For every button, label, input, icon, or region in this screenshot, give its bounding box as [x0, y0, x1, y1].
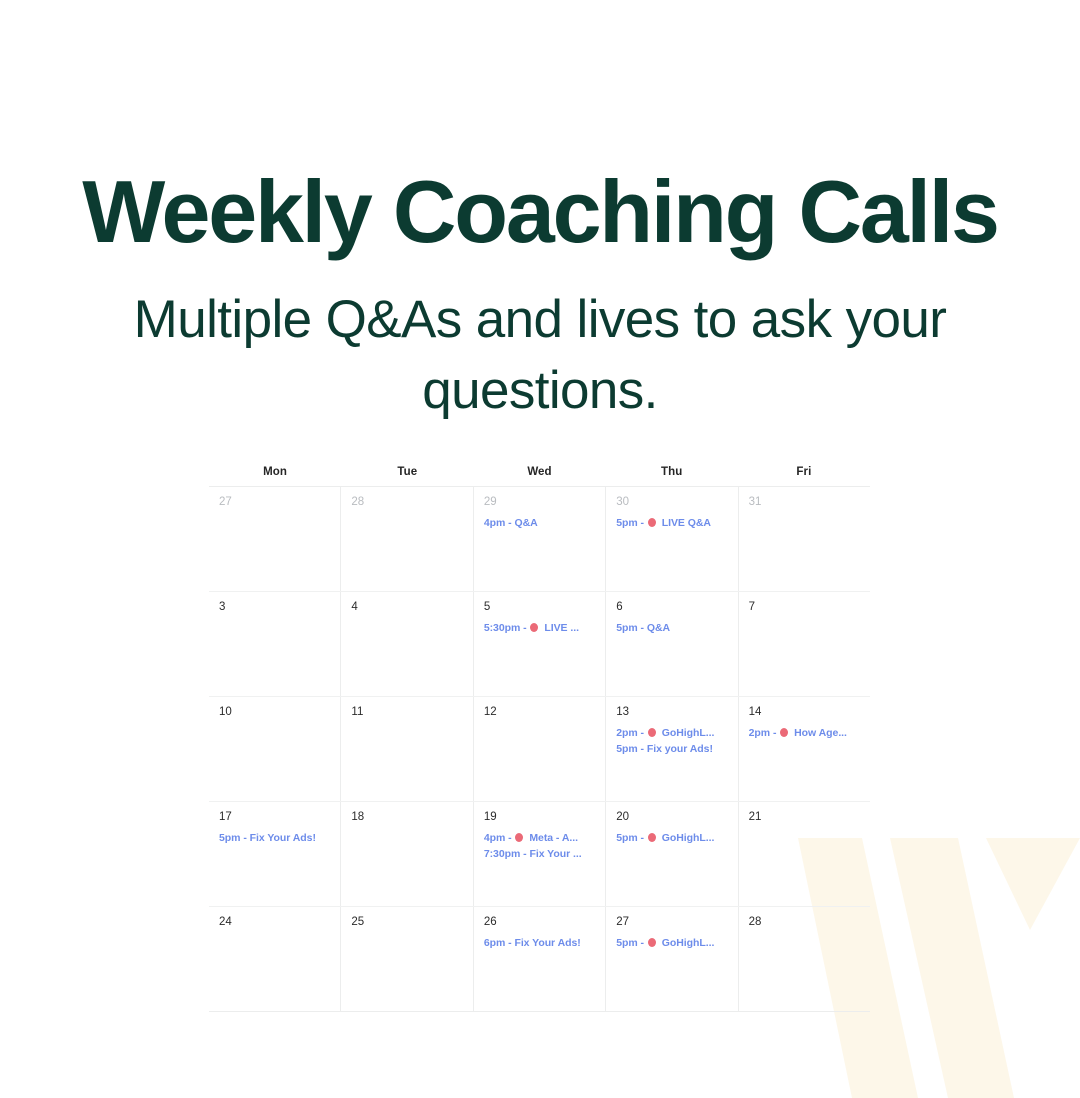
calendar-event-label: Q&A	[514, 517, 537, 529]
calendar-event-time: 7:30pm	[484, 848, 520, 860]
hero-text-block: Weekly Coaching Calls Multiple Q&As and …	[0, 0, 1080, 426]
calendar-day-number: 3	[219, 601, 340, 614]
calendar-event-time: 5pm	[616, 937, 637, 949]
calendar-event-label: GoHighL...	[662, 727, 715, 739]
calendar-event-list: 4pm - Meta - A...7:30pm - Fix Your ...	[484, 830, 605, 862]
calendar-day-number: 30	[616, 496, 737, 509]
calendar-event[interactable]: 2pm - How Age...	[749, 725, 870, 741]
calendar-day-cell[interactable]: 205pm - GoHighL...	[606, 802, 738, 906]
calendar-event-label: Meta - A...	[529, 832, 578, 844]
calendar-event-label: Fix Your Ads!	[514, 937, 580, 949]
calendar-day-cell[interactable]: 28	[341, 487, 473, 591]
page-title: Weekly Coaching Calls	[0, 0, 1080, 258]
calendar-day-number: 21	[749, 811, 870, 824]
calendar-week-row: 175pm - Fix Your Ads!18194pm - Meta - A.…	[209, 802, 870, 907]
calendar-day-cell[interactable]: 31	[739, 487, 870, 591]
calendar-event[interactable]: 4pm - Q&A	[484, 515, 605, 531]
calendar-day-number: 5	[484, 601, 605, 614]
calendar-day-number: 27	[219, 496, 340, 509]
calendar-day-cell[interactable]: 194pm - Meta - A...7:30pm - Fix Your ...	[474, 802, 606, 906]
calendar-event-list: 6pm - Fix Your Ads!	[484, 935, 605, 951]
calendar-event-label: GoHighL...	[662, 937, 715, 949]
calendar-event-list: 5pm - LIVE Q&A	[616, 515, 737, 531]
page-subtitle: Multiple Q&As and lives to ask your ques…	[0, 258, 1080, 426]
calendar-day-number: 17	[219, 811, 340, 824]
calendar-day-number: 26	[484, 916, 605, 929]
calendar-day-number: 6	[616, 601, 737, 614]
calendar-event-label: LIVE Q&A	[662, 517, 711, 529]
calendar-week-row: 3455:30pm - LIVE ...65pm - Q&A7	[209, 592, 870, 697]
calendar-day-cell[interactable]: 12	[474, 697, 606, 801]
calendar-event-time: 5pm	[616, 517, 637, 529]
calendar-event-list: 2pm - GoHighL...5pm - Fix your Ads!	[616, 725, 737, 757]
calendar-day-number: 7	[749, 601, 870, 614]
calendar-event-list: 5pm - Q&A	[616, 620, 737, 636]
calendar-day-number: 11	[351, 706, 472, 719]
calendar-day-cell[interactable]: 3	[209, 592, 341, 696]
calendar-day-cell[interactable]: 142pm - How Age...	[739, 697, 870, 801]
calendar-event[interactable]: 5pm - Q&A	[616, 620, 737, 636]
calendar-day-number: 10	[219, 706, 340, 719]
calendar-day-number: 12	[484, 706, 605, 719]
calendar-day-number: 25	[351, 916, 472, 929]
calendar-weekday-mon: Mon	[209, 466, 341, 478]
calendar-day-number: 31	[749, 496, 870, 509]
live-dot-icon	[780, 728, 788, 737]
calendar-event-label: GoHighL...	[662, 832, 715, 844]
calendar-day-cell[interactable]: 175pm - Fix Your Ads!	[209, 802, 341, 906]
calendar-event-time: 5pm	[219, 832, 240, 844]
calendar-event[interactable]: 5pm - GoHighL...	[616, 935, 737, 951]
calendar-event-list: 5pm - Fix Your Ads!	[219, 830, 340, 846]
calendar-event-time: 4pm	[484, 517, 505, 529]
calendar-weekday-fri: Fri	[738, 466, 870, 478]
calendar-event[interactable]: 5pm - Fix your Ads!	[616, 741, 737, 757]
calendar-week-row: 2425266pm - Fix Your Ads!275pm - GoHighL…	[209, 907, 870, 1011]
calendar-week-row: 2728294pm - Q&A305pm - LIVE Q&A31	[209, 487, 870, 592]
calendar-day-number: 4	[351, 601, 472, 614]
calendar-event[interactable]: 6pm - Fix Your Ads!	[484, 935, 605, 951]
calendar-week-row: 101112132pm - GoHighL...5pm - Fix your A…	[209, 697, 870, 802]
calendar-grid: 2728294pm - Q&A305pm - LIVE Q&A313455:30…	[209, 486, 870, 1012]
calendar-event-time: 5pm	[616, 743, 637, 755]
live-dot-icon	[648, 728, 656, 737]
calendar-day-cell[interactable]: 65pm - Q&A	[606, 592, 738, 696]
calendar-event-label: LIVE ...	[544, 622, 579, 634]
calendar-day-cell[interactable]: 24	[209, 907, 341, 1011]
calendar-day-cell[interactable]: 18	[341, 802, 473, 906]
calendar-event-label: Fix Your ...	[529, 848, 581, 860]
calendar-day-cell[interactable]: 7	[739, 592, 870, 696]
calendar-event-list: 5pm - GoHighL...	[616, 830, 737, 846]
calendar-day-cell[interactable]: 266pm - Fix Your Ads!	[474, 907, 606, 1011]
calendar-day-number: 29	[484, 496, 605, 509]
calendar-day-number: 24	[219, 916, 340, 929]
calendar-event[interactable]: 5:30pm - LIVE ...	[484, 620, 605, 636]
calendar-weekday-thu: Thu	[606, 466, 738, 478]
calendar-event-time: 5pm	[616, 622, 637, 634]
calendar-day-cell[interactable]: 28	[739, 907, 870, 1011]
calendar-day-number: 13	[616, 706, 737, 719]
calendar-event[interactable]: 2pm - GoHighL...	[616, 725, 737, 741]
calendar-day-cell[interactable]: 10	[209, 697, 341, 801]
calendar-event-label: Fix Your Ads!	[250, 832, 316, 844]
calendar-day-cell[interactable]: 4	[341, 592, 473, 696]
live-dot-icon	[515, 833, 523, 842]
calendar-day-cell[interactable]: 25	[341, 907, 473, 1011]
calendar-event-list: 5pm - GoHighL...	[616, 935, 737, 951]
calendar-event-time: 4pm	[484, 832, 505, 844]
calendar-event-label: How Age...	[794, 727, 847, 739]
calendar-event[interactable]: 5pm - LIVE Q&A	[616, 515, 737, 531]
calendar-event-time: 5:30pm	[484, 622, 520, 634]
calendar-day-cell[interactable]: 294pm - Q&A	[474, 487, 606, 591]
calendar-event-time: 2pm	[616, 727, 637, 739]
calendar-day-cell[interactable]: 305pm - LIVE Q&A	[606, 487, 738, 591]
calendar-day-number: 14	[749, 706, 870, 719]
calendar-day-number: 28	[749, 916, 870, 929]
live-dot-icon	[648, 938, 656, 947]
calendar-day-cell[interactable]: 55:30pm - LIVE ...	[474, 592, 606, 696]
calendar-day-cell[interactable]: 11	[341, 697, 473, 801]
calendar-day-number: 20	[616, 811, 737, 824]
calendar-event-list: 4pm - Q&A	[484, 515, 605, 531]
calendar-day-number: 19	[484, 811, 605, 824]
calendar-widget: MonTueWedThuFri 2728294pm - Q&A305pm - L…	[209, 457, 870, 1012]
calendar-day-cell[interactable]: 132pm - GoHighL...5pm - Fix your Ads!	[606, 697, 738, 801]
calendar-day-number: 28	[351, 496, 472, 509]
calendar-day-cell[interactable]: 27	[209, 487, 341, 591]
calendar-event[interactable]: 5pm - Fix Your Ads!	[219, 830, 340, 846]
calendar-day-number: 27	[616, 916, 737, 929]
calendar-event-label: Q&A	[647, 622, 670, 634]
live-dot-icon	[530, 623, 538, 632]
calendar-weekday-wed: Wed	[473, 466, 605, 478]
calendar-day-cell[interactable]: 275pm - GoHighL...	[606, 907, 738, 1011]
calendar-event-time: 5pm	[616, 832, 637, 844]
calendar-weekday-tue: Tue	[341, 466, 473, 478]
live-dot-icon	[648, 518, 656, 527]
calendar-day-cell[interactable]: 21	[739, 802, 870, 906]
calendar-day-number: 18	[351, 811, 472, 824]
live-dot-icon	[648, 833, 656, 842]
calendar-event[interactable]: 4pm - Meta - A...	[484, 830, 605, 846]
calendar-event[interactable]: 7:30pm - Fix Your ...	[484, 846, 605, 862]
calendar-event-time: 2pm	[749, 727, 770, 739]
calendar-event-time: 6pm	[484, 937, 505, 949]
calendar-weekday-header: MonTueWedThuFri	[209, 457, 870, 486]
calendar-event[interactable]: 5pm - GoHighL...	[616, 830, 737, 846]
calendar-event-list: 5:30pm - LIVE ...	[484, 620, 605, 636]
calendar-event-label: Fix your Ads!	[647, 743, 713, 755]
calendar-event-list: 2pm - How Age...	[749, 725, 870, 741]
